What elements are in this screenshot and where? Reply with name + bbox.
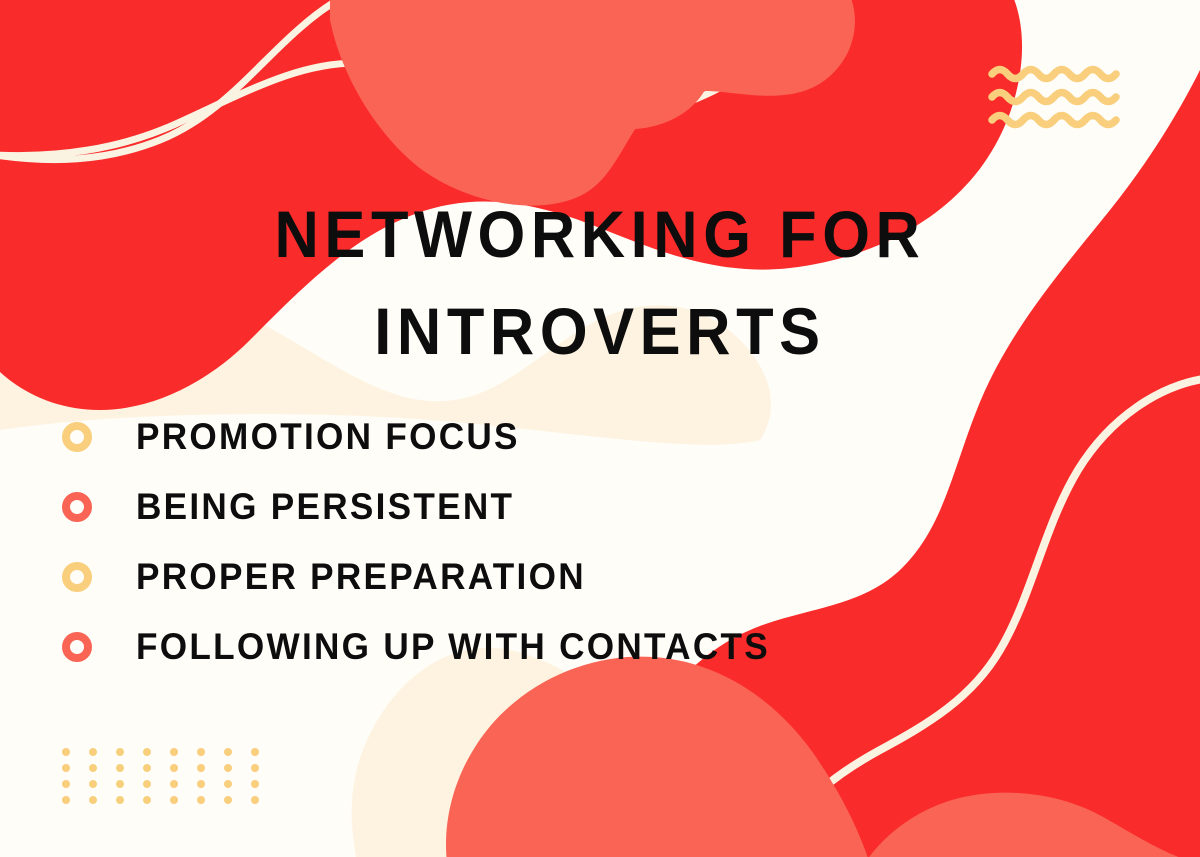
grid-dot <box>116 748 124 756</box>
grid-dot <box>251 764 259 772</box>
list-item: PROMOTION FOCUS <box>62 402 1122 472</box>
wave-line-row-2 <box>992 93 1116 102</box>
grid-dot <box>170 796 178 804</box>
wave-line-row-1 <box>992 70 1116 79</box>
grid-dot <box>197 796 205 804</box>
wave-line-row-3 <box>992 116 1116 125</box>
grid-dot <box>224 764 232 772</box>
ring-bullet-icon <box>62 492 92 522</box>
grid-dot <box>251 796 259 804</box>
grid-dot <box>62 780 70 788</box>
top-left-cream-curve-line <box>0 0 404 160</box>
grid-dot <box>197 780 205 788</box>
top-left-cream-curve-line-2 <box>0 0 828 156</box>
grid-dot <box>251 748 259 756</box>
list-item-label: BEING PERSISTENT <box>136 486 514 528</box>
poster-canvas: NETWORKING FOR INTROVERTS PROMOTION FOCU… <box>0 0 1200 857</box>
top-right-salmon-lobe <box>539 0 713 129</box>
bottom-far-right-salmon-blob <box>860 793 1200 857</box>
list-item: PROPER PREPARATION <box>62 542 1122 612</box>
list-item: FOLLOWING UP WITH CONTACTS <box>62 612 1122 682</box>
list-item-label: PROPER PREPARATION <box>136 556 586 598</box>
grid-dot <box>89 748 97 756</box>
wavy-lines-icon <box>988 64 1120 130</box>
top-center-salmon-blob <box>330 0 855 206</box>
list-item-label: FOLLOWING UP WITH CONTACTS <box>136 626 770 668</box>
grid-dot <box>170 780 178 788</box>
list-item: BEING PERSISTENT <box>62 472 1122 542</box>
ring-bullet-icon <box>62 422 92 452</box>
bottom-right-salmon-blob <box>446 657 872 857</box>
grid-dot <box>224 796 232 804</box>
grid-dot <box>170 748 178 756</box>
grid-dot <box>116 780 124 788</box>
grid-dot <box>116 764 124 772</box>
grid-dot <box>89 780 97 788</box>
grid-dot <box>170 764 178 772</box>
grid-dot <box>197 748 205 756</box>
grid-dot <box>251 780 259 788</box>
title-line-2: INTROVERTS <box>42 283 1158 380</box>
grid-dot <box>116 796 124 804</box>
grid-dot <box>89 796 97 804</box>
grid-dot <box>62 748 70 756</box>
grid-dot <box>224 780 232 788</box>
page-title: NETWORKING FOR INTROVERTS <box>0 186 1200 380</box>
ring-bullet-icon <box>62 562 92 592</box>
grid-dot <box>62 764 70 772</box>
grid-dot <box>197 764 205 772</box>
grid-dot <box>224 748 232 756</box>
ring-bullet-icon <box>62 632 92 662</box>
list-item-label: PROMOTION FOCUS <box>136 416 520 458</box>
grid-dot <box>143 796 151 804</box>
grid-dot <box>89 764 97 772</box>
grid-dot <box>143 748 151 756</box>
grid-dot <box>143 780 151 788</box>
dot-grid-icon <box>62 744 262 800</box>
grid-dot <box>62 796 70 804</box>
grid-dot <box>143 764 151 772</box>
title-line-1: NETWORKING FOR <box>42 186 1158 283</box>
bullet-list: PROMOTION FOCUS BEING PERSISTENT PROPER … <box>62 402 1122 682</box>
